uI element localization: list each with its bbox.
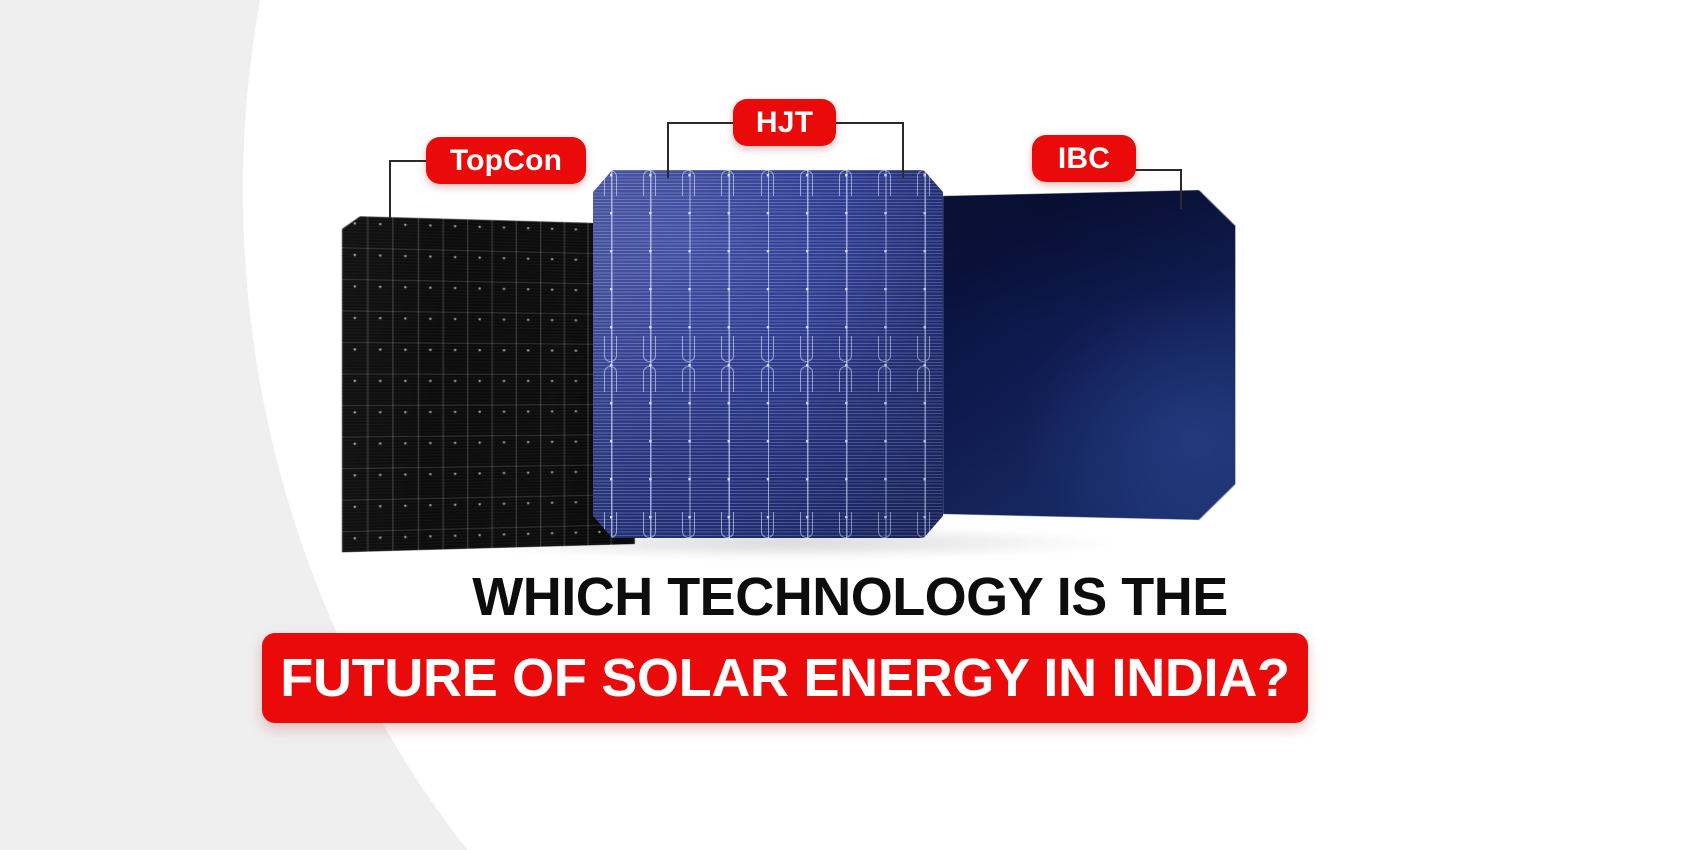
label-hjt-text: HJT: [756, 106, 813, 140]
hjt-leader-horizontal-right: [834, 122, 904, 124]
headline-banner: FUTURE OF SOLAR ENERGY IN INDIA?: [262, 633, 1308, 723]
ibc-cell[interactable]: [943, 189, 1235, 520]
hjt-leader-vertical-left: [667, 122, 669, 178]
topcon-cell[interactable]: [342, 216, 635, 553]
headline-line-2: FUTURE OF SOLAR ENERGY IN INDIA?: [280, 647, 1289, 709]
ibc-surface-sheen: [943, 189, 1235, 520]
hjt-surface-sheen: [593, 170, 943, 538]
hjt-leader-vertical-right: [902, 122, 904, 178]
hjt-leader-horizontal-left: [667, 122, 735, 124]
label-topcon-text: TopCon: [450, 144, 562, 178]
topcon-solder-pads: [342, 216, 635, 553]
label-hjt[interactable]: HJT: [733, 99, 836, 146]
label-ibc[interactable]: IBC: [1032, 135, 1136, 182]
label-ibc-text: IBC: [1058, 142, 1110, 176]
ibc-leader-vertical: [1180, 169, 1182, 209]
topcon-leader-horizontal: [389, 160, 429, 162]
poster-canvas: TopCon HJT IBC WHICH TECHNOLOGY IS THE F…: [0, 0, 1700, 850]
topcon-leader-vertical: [389, 160, 391, 218]
label-topcon[interactable]: TopCon: [426, 137, 586, 184]
ibc-leader-horizontal: [1134, 169, 1182, 171]
headline-line-1: WHICH TECHNOLOGY IS THE: [0, 566, 1700, 628]
hjt-cell[interactable]: [593, 170, 943, 538]
